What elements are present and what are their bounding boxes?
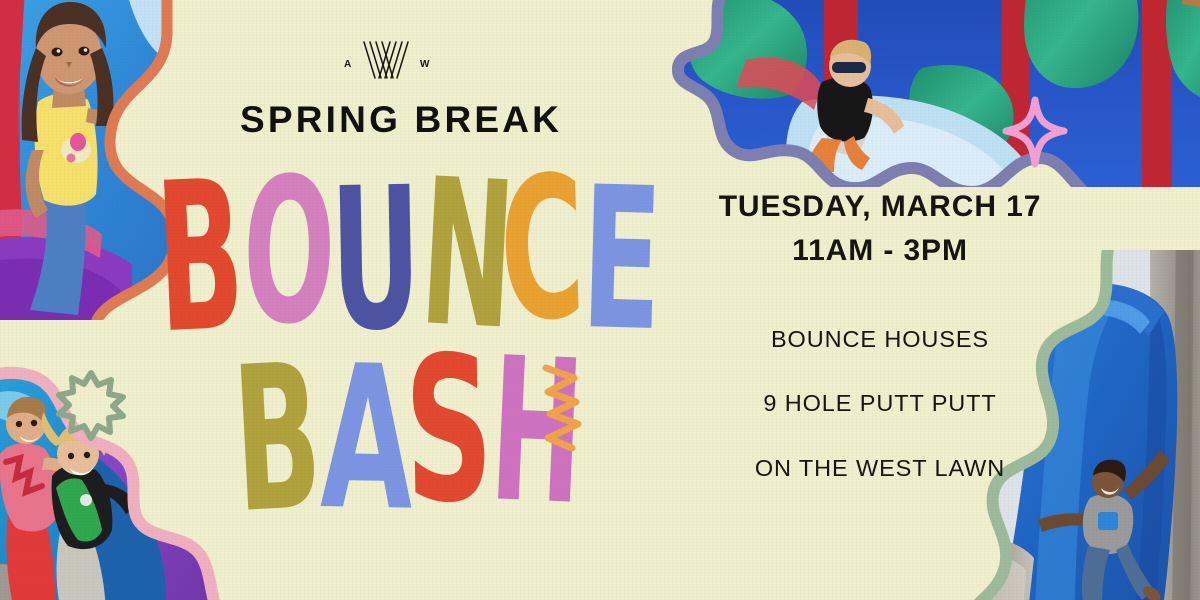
event-detail-bounce-houses: BOUNCE HOUSES [700,328,1060,352]
photo-boy-on-inflatable-slide [672,0,1200,187]
event-details-list: BOUNCE HOUSES 9 HOLE PUTT PUTT ON THE WE… [700,328,1060,481]
event-detail-putt-putt: 9 HOLE PUTT PUTT [700,392,1060,416]
aw-monogram-logo: A W [330,32,442,88]
wordmark-letter-e: E [579,145,665,375]
event-time: 11AM - 3PM [700,229,1060,273]
wordmark-bounce-bash: B O U N C E B A S H [0,150,680,550]
event-date: TUESDAY, MARCH 17 [700,185,1060,229]
logo-letter-a: A [344,59,352,70]
orange-zigzag-icon [534,362,590,452]
event-info: TUESDAY, MARCH 17 11AM - 3PM BOUNCE HOUS… [700,185,1060,480]
event-detail-location: ON THE WEST LAWN [700,457,1060,481]
wordmark-letter-s: S [403,313,495,548]
event-flyer: A W SPRING BREAK B O U N C E B A S H [0,0,1200,600]
pink-sparkle-icon [1000,96,1070,168]
logo-letter-w: W [420,59,430,70]
eyebrow-spring-break: SPRING BREAK [240,99,562,141]
wordmark-letter-b2: B [228,321,326,558]
sage-starburst-icon [54,368,128,442]
wordmark-letter-a: A [319,322,415,555]
